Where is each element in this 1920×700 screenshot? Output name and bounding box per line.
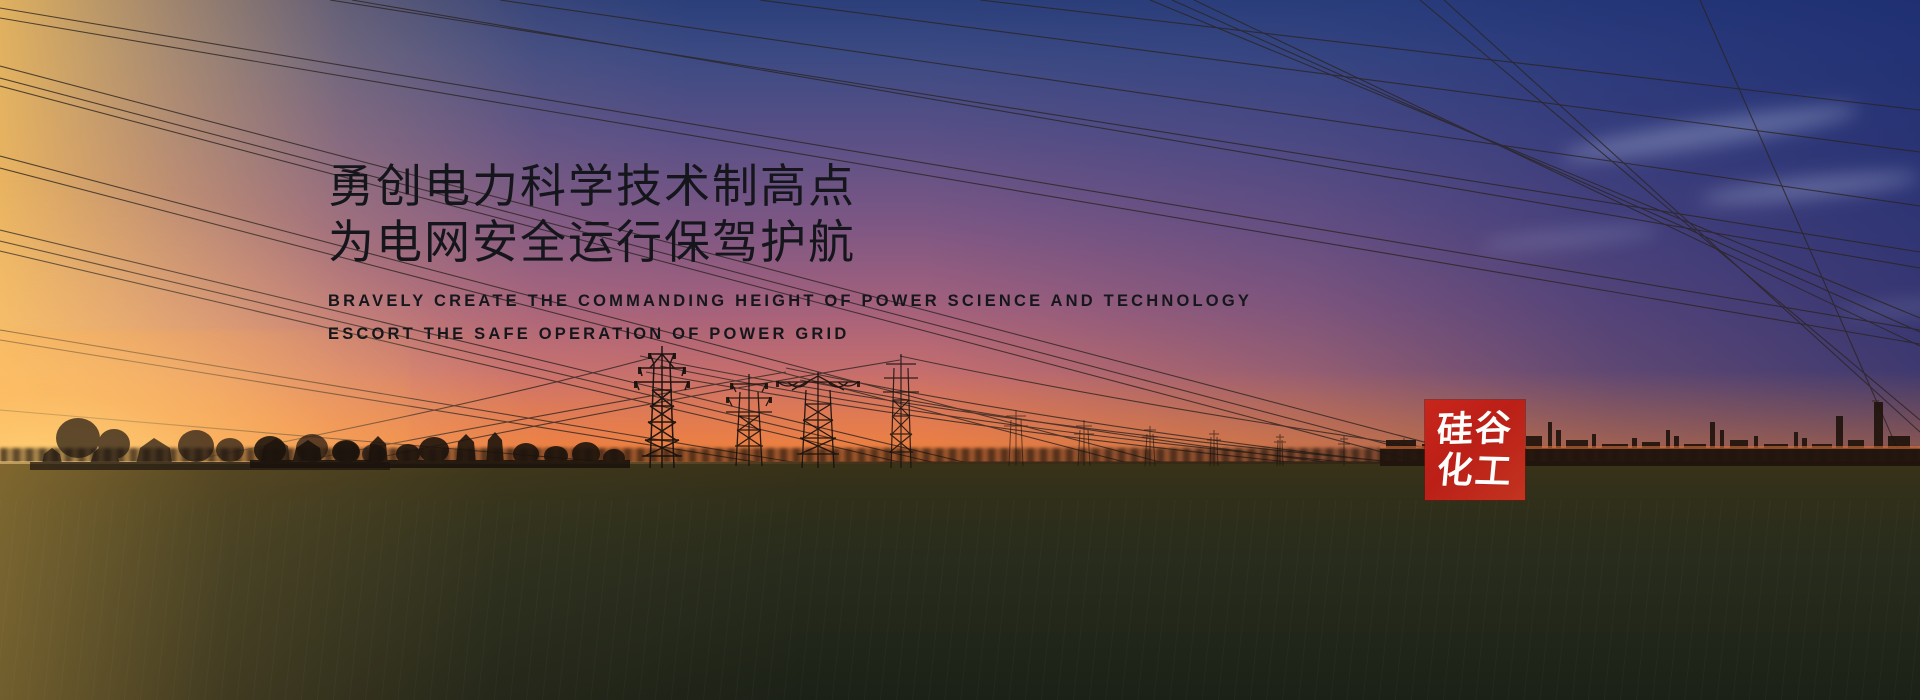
transmission-tower-background-group bbox=[1000, 404, 1420, 466]
subtitle-line-2: ESCORT THE SAFE OPERATION OF POWER GRID bbox=[328, 325, 1228, 344]
subtitle-line-1: BRAVELY CREATE THE COMMANDING HEIGHT OF … bbox=[328, 292, 1228, 311]
seal-text-line-2: 化工 bbox=[1435, 449, 1515, 493]
transmission-tower-center bbox=[626, 344, 698, 468]
banner-copy: 勇创电力科学技术制高点 为电网安全运行保驾护航 BRAVELY CREATE T… bbox=[328, 158, 1228, 344]
headline-line-2: 为电网安全运行保驾护航 bbox=[328, 214, 1228, 270]
transmission-tower-far bbox=[880, 352, 922, 468]
transmission-tower-right bbox=[772, 368, 864, 468]
transmission-tower-left bbox=[722, 372, 776, 466]
company-seal-logo[interactable]: 硅谷 化工 bbox=[1425, 400, 1525, 500]
field-furrows bbox=[0, 500, 1920, 700]
barn-and-trees-silhouette bbox=[250, 420, 630, 468]
seal-text-line-1: 硅谷 bbox=[1436, 407, 1514, 452]
hero-banner: 勇创电力科学技术制高点 为电网安全运行保驾护航 BRAVELY CREATE T… bbox=[0, 0, 1920, 700]
headline-line-1: 勇创电力科学技术制高点 bbox=[328, 158, 1228, 214]
